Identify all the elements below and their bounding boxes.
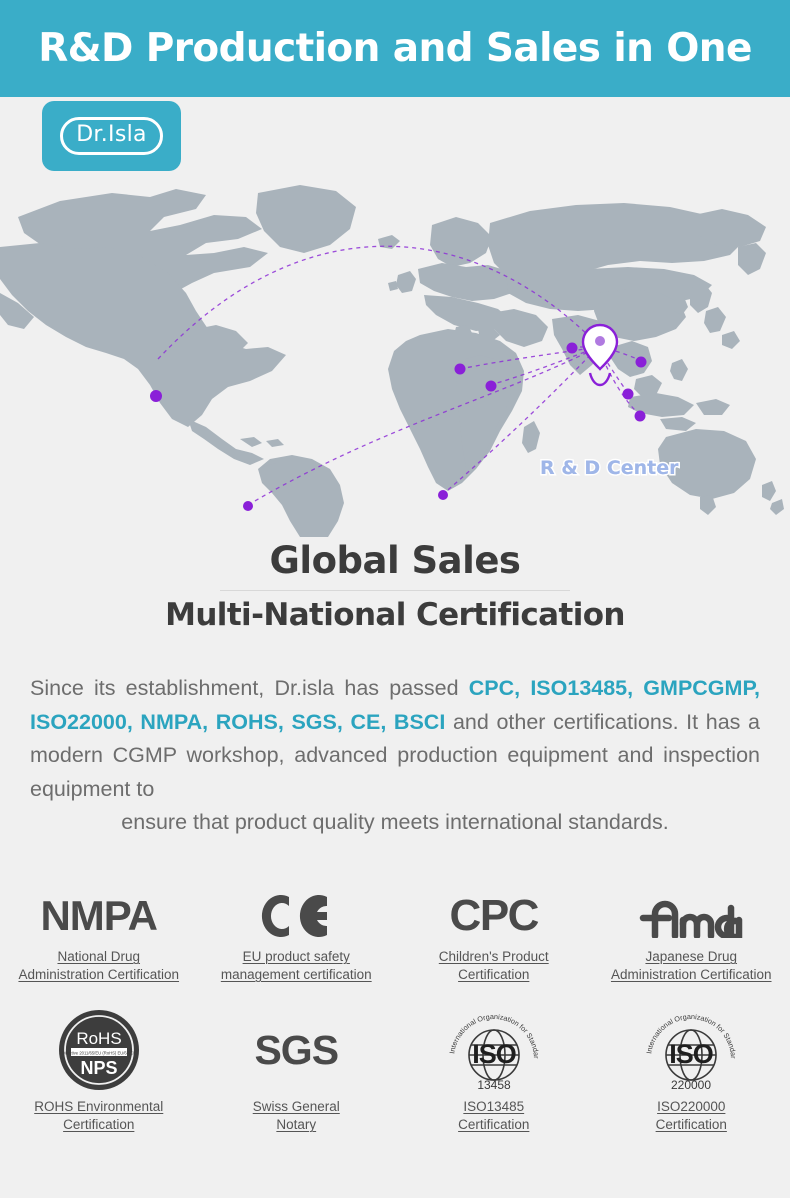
sgs-mark: SGS xyxy=(254,1006,338,1094)
caption-line-2: Administration Certification xyxy=(18,966,179,984)
paragraph-last-line: ensure that product quality meets intern… xyxy=(30,806,760,840)
caption-line-2: Administration Certification xyxy=(611,966,772,984)
ce-caption: EU product safety management certificati… xyxy=(221,948,372,984)
cert-item-ce: EU product safety management certificati… xyxy=(198,888,396,1006)
rohs-caption: ROHS Environmental Certification xyxy=(34,1098,163,1134)
cert-item-rohs: RoHS Directive 2011/65/EU (RoHS) EU/65 C… xyxy=(0,1006,198,1156)
iso-letters: ISO xyxy=(669,1039,713,1069)
iso-letters: ISO xyxy=(472,1039,516,1069)
rohs-seal-strip: Directive 2011/65/EU (RoHS) EU/65 CE xyxy=(62,1050,136,1055)
iso-number: 13458 xyxy=(477,1078,511,1092)
nmpa-mark: NMPA xyxy=(40,888,157,944)
cert-item-sgs: SGS Swiss General Notary xyxy=(198,1006,396,1156)
caption-line-1: EU product safety xyxy=(221,948,372,966)
title-divider xyxy=(220,590,570,591)
rohs-seal-bottom: NPS xyxy=(80,1058,117,1078)
landmasses xyxy=(0,185,784,537)
certification-grid: NMPA National Drug Administration Certif… xyxy=(0,888,790,1156)
rohs-mark: RoHS Directive 2011/65/EU (RoHS) EU/65 C… xyxy=(57,1006,141,1094)
rohs-seal-icon: RoHS Directive 2011/65/EU (RoHS) EU/65 C… xyxy=(57,1008,141,1092)
caption-line-1: Children's Product xyxy=(439,948,549,966)
paragraph-lead: Since its establishment, Dr.isla has pas… xyxy=(30,676,469,700)
caption-line-1: National Drug xyxy=(18,948,179,966)
cert-item-iso13485: International Organization for Standardi… xyxy=(395,1006,593,1156)
caption-line-1: ROHS Environmental xyxy=(34,1098,163,1116)
caption-line-1: Swiss General xyxy=(253,1098,340,1116)
pmda-wordmark xyxy=(639,894,743,938)
caption-line-2: Certification xyxy=(656,1116,727,1134)
brand-name: Dr.Isla xyxy=(60,117,163,155)
cpc-wordmark: CPC xyxy=(450,891,538,941)
certification-row-1: NMPA National Drug Administration Certif… xyxy=(0,888,790,1006)
nmpa-wordmark: NMPA xyxy=(40,892,157,940)
certification-row-2: RoHS Directive 2011/65/EU (RoHS) EU/65 C… xyxy=(0,1006,790,1156)
iso-globe-icon: International Organization for Standardi… xyxy=(639,1007,743,1093)
caption-line-2: Certification xyxy=(439,966,549,984)
caption-line-2: Certification xyxy=(458,1116,529,1134)
cpc-mark: CPC xyxy=(450,888,538,944)
pmda-mark xyxy=(639,888,743,944)
sgs-wordmark: SGS xyxy=(254,1027,338,1074)
cert-item-iso220000: International Organization for Standardi… xyxy=(593,1006,790,1156)
global-sales-title: Global Sales xyxy=(0,540,790,581)
caption-line-2: management certification xyxy=(221,966,372,984)
rohs-seal-top: RoHS xyxy=(76,1029,121,1048)
caption-line-1: Japanese Drug xyxy=(611,948,772,966)
iso-globe-icon: International Organization for Standardi… xyxy=(442,1007,546,1093)
cert-item-cpc: CPC Children's Product Certification xyxy=(395,888,593,1006)
caption-line-2: Notary xyxy=(253,1116,340,1134)
cert-item-pmda: Japanese Drug Administration Certificati… xyxy=(593,888,790,1006)
rnd-center-label: R & D Center xyxy=(540,457,679,479)
caption-line-1: ISO220000 xyxy=(656,1098,727,1116)
nmpa-caption: National Drug Administration Certificati… xyxy=(18,948,179,984)
sgs-caption: Swiss General Notary xyxy=(253,1098,340,1134)
ce-mark-icon xyxy=(259,893,333,939)
brand-logo-badge: Dr.Isla xyxy=(42,101,181,171)
caption-line-2: Certification xyxy=(34,1116,163,1134)
pmda-caption: Japanese Drug Administration Certificati… xyxy=(611,948,772,984)
iso13485-caption: ISO13485 Certification xyxy=(458,1098,529,1134)
description-paragraph: Since its establishment, Dr.isla has pas… xyxy=(30,672,760,840)
section-titles: Global Sales Multi-National Certificatio… xyxy=(0,540,790,634)
iso-number: 220000 xyxy=(671,1078,711,1092)
iso220000-caption: ISO220000 Certification xyxy=(656,1098,727,1134)
page-header: R&D Production and Sales in One xyxy=(0,0,790,97)
multi-national-certification-title: Multi-National Certification xyxy=(0,598,790,634)
ce-mark xyxy=(259,888,333,944)
cpc-caption: Children's Product Certification xyxy=(439,948,549,984)
caption-line-1: ISO13485 xyxy=(458,1098,529,1116)
page-title: R&D Production and Sales in One xyxy=(38,26,752,71)
cert-item-nmpa: NMPA National Drug Administration Certif… xyxy=(0,888,198,1006)
iso220000-mark: International Organization for Standardi… xyxy=(639,1006,743,1094)
iso13485-mark: International Organization for Standardi… xyxy=(442,1006,546,1094)
